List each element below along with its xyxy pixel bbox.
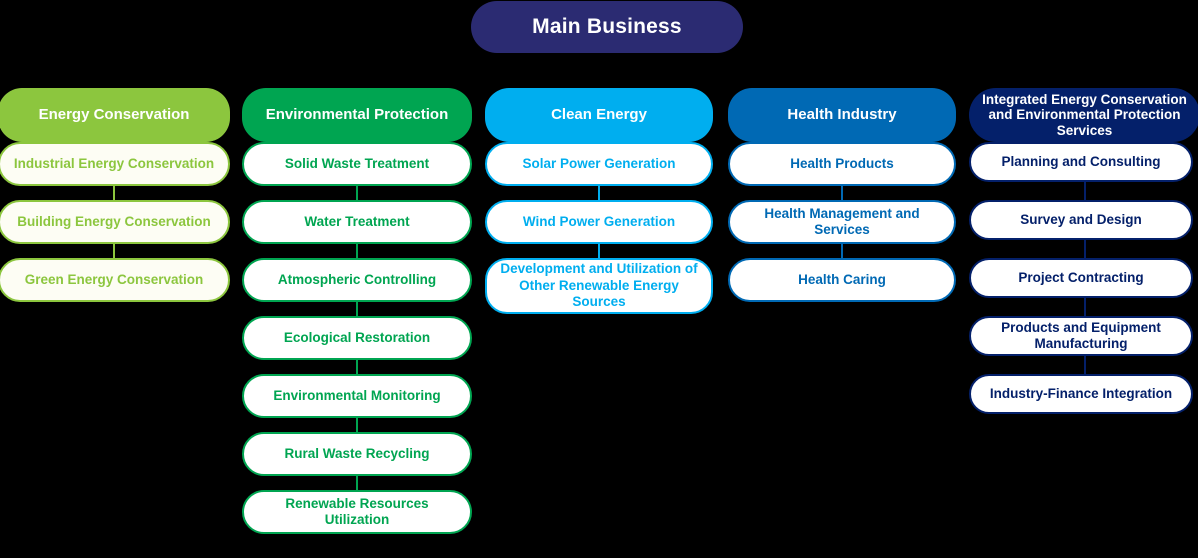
branch-header-energy-conservation[interactable]: Energy Conservation: [0, 88, 230, 142]
branch-item[interactable]: Green Energy Conservation: [0, 258, 230, 302]
branch-item[interactable]: Project Contracting: [969, 258, 1193, 298]
branch-item[interactable]: Industrial Energy Conservation: [0, 142, 230, 186]
branch-item[interactable]: Atmospheric Controlling: [242, 258, 472, 302]
org-chart-canvas: Main Business Energy Conservation Indust…: [0, 0, 1198, 556]
branch-column-clean-energy: Clean Energy Solar Power Generation Wind…: [485, 88, 713, 314]
branch-item[interactable]: Solar Power Generation: [485, 142, 713, 186]
branch-column-integrated-services: Integrated Energy Conservation and Envir…: [969, 88, 1198, 432]
branch-item[interactable]: Wind Power Generation: [485, 200, 713, 244]
branch-column-health-industry: Health Industry Health Products Health M…: [728, 88, 956, 302]
branch-item[interactable]: Ecological Restoration: [242, 316, 472, 360]
branch-header-clean-energy[interactable]: Clean Energy: [485, 88, 713, 142]
branch-item[interactable]: Health Management and Services: [728, 200, 956, 244]
branch-items-environmental-protection: Solid Waste Treatment Water Treatment At…: [242, 142, 472, 534]
branch-item[interactable]: Solid Waste Treatment: [242, 142, 472, 186]
branch-item[interactable]: Rural Waste Recycling: [242, 432, 472, 476]
branch-items-clean-energy: Solar Power Generation Wind Power Genera…: [485, 142, 713, 314]
branch-item[interactable]: Environmental Monitoring: [242, 374, 472, 418]
branch-item[interactable]: Industry-Finance Integration: [969, 374, 1193, 414]
branch-item[interactable]: Health Caring: [728, 258, 956, 302]
branch-item[interactable]: Development and Utilization of Other Ren…: [485, 258, 713, 314]
branch-header-environmental-protection[interactable]: Environmental Protection: [242, 88, 472, 142]
branch-column-environmental-protection: Environmental Protection Solid Waste Tre…: [242, 88, 472, 534]
branch-columns: Energy Conservation Industrial Energy Co…: [0, 88, 1198, 558]
branch-item[interactable]: Building Energy Conservation: [0, 200, 230, 244]
branch-header-integrated-services[interactable]: Integrated Energy Conservation and Envir…: [969, 88, 1198, 142]
branch-column-energy-conservation: Energy Conservation Industrial Energy Co…: [0, 88, 230, 302]
branch-header-health-industry[interactable]: Health Industry: [728, 88, 956, 142]
branch-item[interactable]: Survey and Design: [969, 200, 1193, 240]
root-node-main-business[interactable]: Main Business: [471, 1, 743, 53]
branch-item[interactable]: Water Treatment: [242, 200, 472, 244]
branch-item[interactable]: Renewable Resources Utilization: [242, 490, 472, 534]
branch-items-energy-conservation: Industrial Energy Conservation Building …: [0, 142, 230, 302]
branch-item[interactable]: Products and Equipment Manufacturing: [969, 316, 1193, 356]
branch-items-health-industry: Health Products Health Management and Se…: [728, 142, 956, 302]
branch-item[interactable]: Health Products: [728, 142, 956, 186]
branch-items-integrated-services: Planning and Consulting Survey and Desig…: [969, 142, 1198, 414]
branch-item[interactable]: Planning and Consulting: [969, 142, 1193, 182]
